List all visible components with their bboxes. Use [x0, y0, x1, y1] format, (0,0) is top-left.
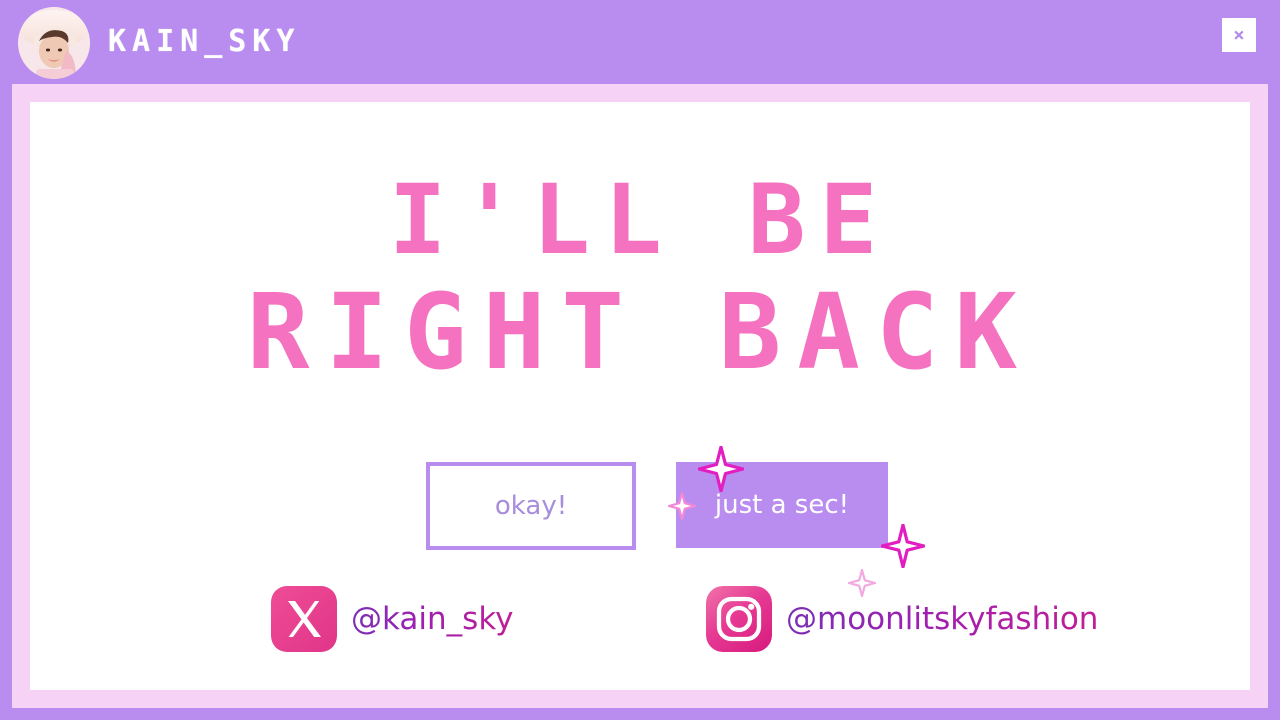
okay-button[interactable]: okay! — [426, 462, 636, 550]
headline: I'LL BE RIGHT BACK — [30, 164, 1250, 388]
card-body: I'LL BE RIGHT BACK okay! just a sec! — [30, 102, 1250, 690]
button-row: okay! just a sec! — [30, 454, 1250, 550]
headline-line-1: I'LL BE — [30, 164, 1250, 276]
headline-line-2: RIGHT BACK — [30, 276, 1250, 388]
x-twitter-icon — [271, 586, 337, 652]
avatar-photo-icon — [18, 7, 90, 79]
social-links: @kain_sky — [30, 580, 1250, 660]
close-icon: × — [1233, 26, 1244, 45]
social-handle-instagram: @moonlitskyfashion — [786, 599, 1098, 639]
window-header: KAIN_SKY × — [0, 0, 1280, 84]
close-button[interactable]: × — [1222, 18, 1256, 52]
window-title: KAIN_SKY — [108, 24, 301, 60]
social-link-x[interactable]: @kain_sky — [271, 586, 514, 652]
avatar — [18, 7, 90, 79]
just-a-sec-button[interactable]: just a sec! — [676, 462, 888, 548]
instagram-icon — [706, 586, 772, 652]
brb-overlay-screen: KAIN_SKY × I'LL BE RIGHT BACK okay! just… — [0, 0, 1280, 720]
social-handle-x: @kain_sky — [351, 599, 514, 639]
social-link-instagram[interactable]: @moonlitskyfashion — [706, 586, 1098, 652]
card-frame: I'LL BE RIGHT BACK okay! just a sec! — [12, 84, 1268, 708]
